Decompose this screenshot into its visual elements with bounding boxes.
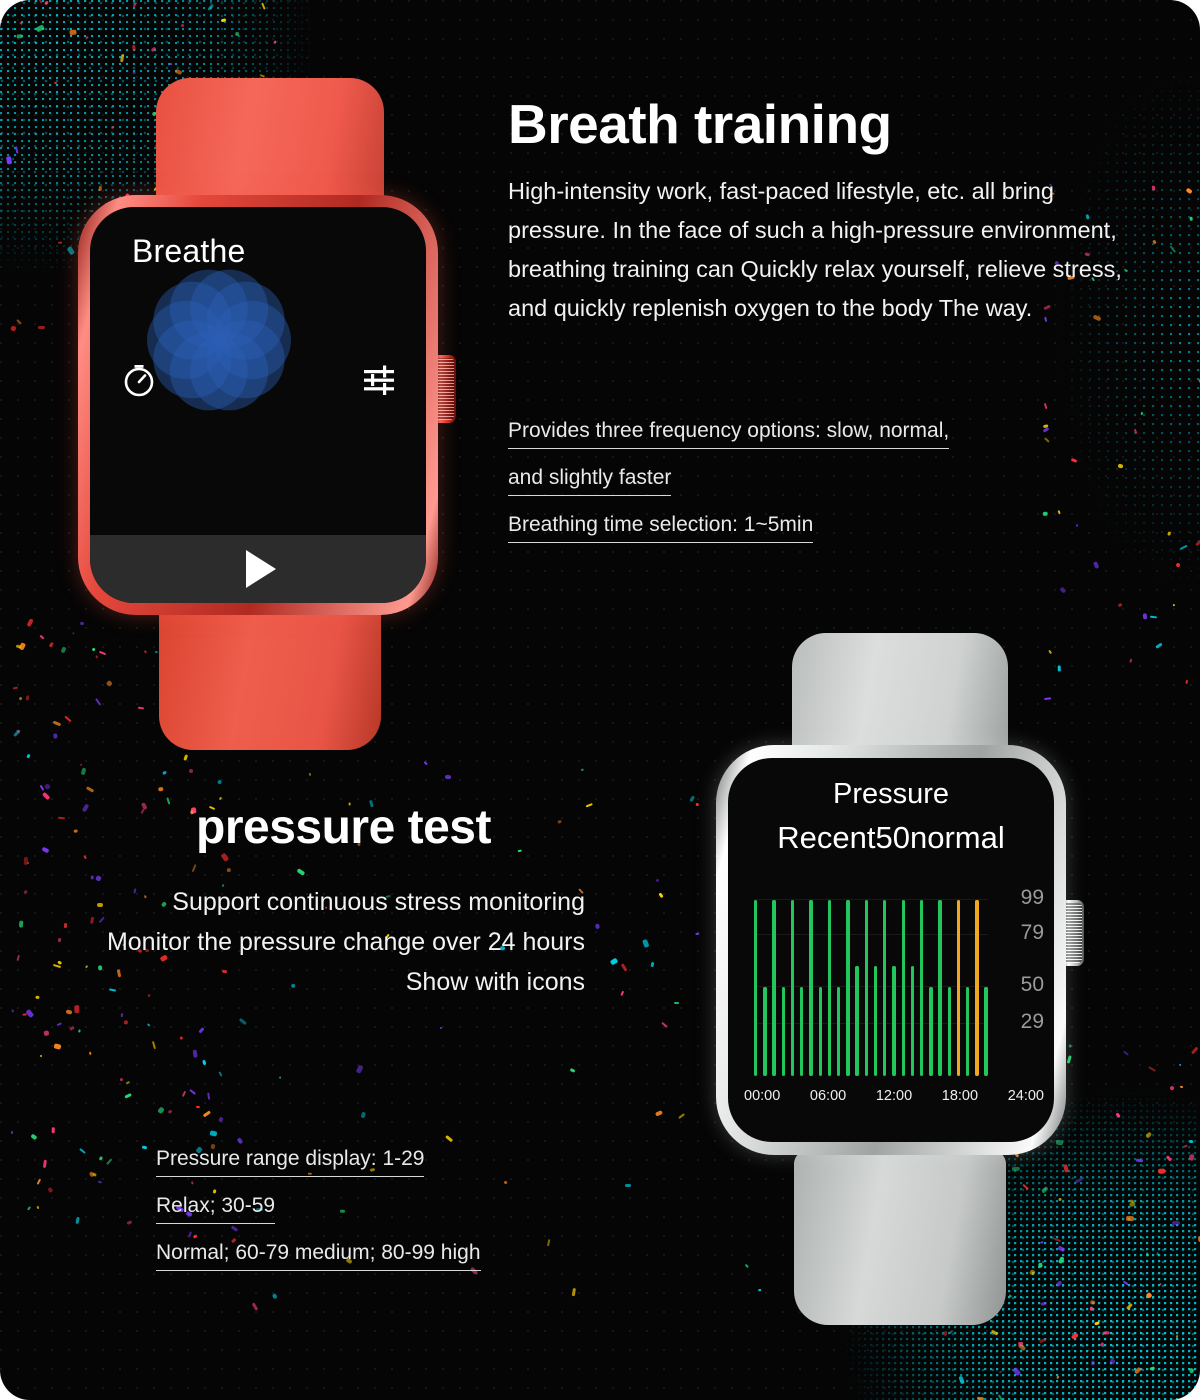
chart-bar (828, 900, 831, 1076)
confetti-speck (203, 1060, 207, 1065)
confetti-speck (654, 1110, 663, 1117)
chart-bar (782, 987, 785, 1076)
chart-bar (957, 900, 960, 1076)
confetti-speck (42, 846, 50, 853)
watch-band-bottom (794, 1150, 1006, 1325)
confetti-speck (1175, 562, 1180, 568)
confetti-speck (943, 1331, 947, 1336)
confetti-speck (27, 1206, 31, 1210)
pressure-spec-list: Pressure range display: 1-29 Relax; 30-5… (156, 1148, 481, 1289)
confetti-speck (272, 1293, 277, 1299)
breathe-mandala-icon (183, 304, 333, 454)
spec-item: Relax; 30-59 (156, 1195, 275, 1224)
confetti-speck (261, 3, 265, 10)
chart-bar (920, 900, 923, 1076)
confetti-speck (18, 696, 22, 700)
confetti-speck (40, 1055, 42, 1057)
confetti-speck (74, 830, 78, 833)
confetti-speck (503, 1180, 507, 1185)
confetti-speck (1116, 1112, 1121, 1117)
confetti-speck (445, 1135, 453, 1143)
confetti-speck (11, 1130, 14, 1133)
confetti-speck (95, 875, 102, 882)
confetti-speck (1175, 1335, 1178, 1339)
confetti-speck (1043, 425, 1049, 429)
confetti-speck (27, 862, 30, 864)
confetti-speck (127, 1220, 133, 1225)
confetti-speck (1158, 1283, 1161, 1286)
confetti-speck (1123, 1051, 1129, 1056)
confetti-speck (221, 18, 226, 22)
confetti-speck (1018, 1342, 1023, 1345)
confetti-speck (1153, 1277, 1155, 1280)
confetti-speck (141, 809, 145, 814)
confetti-speck (182, 1091, 186, 1097)
confetti-speck (1129, 1199, 1134, 1203)
page-title-pressure: pressure test (196, 800, 491, 855)
confetti-speck (1152, 240, 1157, 245)
confetti-speck (78, 1029, 81, 1032)
confetti-speck (557, 819, 562, 824)
confetti-speck (678, 1113, 685, 1119)
pressure-screen-subtitle: Recent50normal (777, 820, 1004, 856)
spec-item: Pressure range display: 1-29 (156, 1148, 424, 1177)
confetti-speck (297, 869, 306, 876)
confetti-speck (38, 326, 45, 329)
confetti-speck (1141, 412, 1144, 415)
confetti-speck (1093, 561, 1099, 568)
confetti-speck (16, 729, 20, 733)
confetti-speck (25, 695, 29, 700)
pressure-description-line: Support continuous stress monitoring (40, 882, 585, 922)
watch-screen-pressure[interactable]: Pressure Recent50normal 99795029 00:0006… (728, 758, 1054, 1142)
chart-bar (855, 966, 858, 1076)
confetti-speck (656, 878, 660, 882)
confetti-speck (239, 1018, 247, 1025)
confetti-speck (1070, 458, 1077, 463)
confetti-speck (40, 635, 45, 640)
confetti-speck (659, 893, 664, 898)
breath-description: High-intensity work, fast-paced lifestyl… (508, 172, 1148, 328)
confetti-speck (35, 995, 40, 998)
confetti-speck (26, 618, 33, 627)
confetti-speck (1167, 531, 1171, 536)
spec-item: Normal; 60-79 medium; 80-99 high (156, 1242, 481, 1271)
confetti-speck (15, 146, 18, 154)
chart-bar (966, 987, 969, 1076)
confetti-speck (1042, 426, 1049, 432)
timer-icon[interactable] (117, 357, 161, 401)
confetti-speck (75, 1005, 80, 1013)
confetti-speck (1126, 1303, 1133, 1310)
confetti-speck (69, 1026, 75, 1031)
confetti-speck (43, 1159, 47, 1167)
confetti-speck (26, 753, 30, 758)
confetti-speck (309, 772, 312, 775)
confetti-speck (76, 1217, 80, 1225)
chart-bar (911, 966, 914, 1076)
confetti-speck (1123, 1281, 1129, 1286)
confetti-speck (625, 1184, 631, 1187)
confetti-speck (83, 803, 90, 811)
confetti-speck (1178, 1064, 1181, 1067)
confetti-speck (651, 961, 654, 966)
chart-y-tick: 29 (1021, 1011, 1044, 1032)
confetti-speck (1143, 613, 1148, 619)
breath-spec-list: Provides three frequency options: slow, … (508, 420, 949, 561)
confetti-speck (1169, 1085, 1174, 1091)
confetti-speck (56, 1022, 61, 1026)
confetti-speck (1195, 538, 1200, 546)
confetti-speck (1136, 1158, 1143, 1162)
confetti-speck (643, 939, 650, 948)
confetti-speck (1057, 510, 1060, 514)
chart-bar (892, 966, 895, 1076)
confetti-speck (26, 1008, 35, 1017)
confetti-speck (158, 787, 164, 792)
confetti-speck (196, 1106, 201, 1108)
confetti-speck (424, 761, 428, 765)
play-button[interactable] (90, 535, 426, 603)
confetti-speck (36, 24, 46, 32)
confetti-speck (219, 796, 222, 800)
confetti-speck (1185, 680, 1187, 684)
confetti-speck (17, 34, 23, 39)
confetti-speck (959, 1376, 965, 1384)
chart-bar (763, 987, 766, 1076)
confetti-speck (1013, 1366, 1021, 1375)
confetti-speck (51, 1127, 54, 1133)
product-poster: Breath training High-intensity work, fas… (0, 0, 1200, 1400)
chart-x-axis: 00:0006:0012:0018:0024:00 (744, 1088, 1044, 1104)
confetti-speck (85, 36, 89, 39)
confetti-speck (1180, 545, 1188, 550)
confetti-speck (1099, 1342, 1104, 1347)
confetti-speck (53, 734, 57, 739)
confetti-speck (199, 1028, 205, 1034)
confetti-speck (152, 1041, 156, 1049)
confetti-speck (1155, 642, 1163, 649)
pressure-description: Support continuous stress monitoring Mon… (40, 882, 585, 1002)
pressure-description-line: Show with icons (40, 962, 585, 1002)
confetti-speck (274, 40, 276, 43)
chart-bar (772, 900, 775, 1076)
chart-y-tick: 79 (1021, 922, 1044, 943)
confetti-speck (1156, 1252, 1158, 1256)
confetti-speck (37, 1179, 41, 1185)
confetti-speck (91, 876, 94, 880)
smartwatch-red: Breathe (60, 60, 480, 750)
confetti-speck (206, 1093, 209, 1100)
spec-item: and slightly faster (508, 467, 671, 496)
confetti-speck (126, 1082, 130, 1085)
confetti-speck (44, 1031, 50, 1037)
confetti-speck (19, 920, 23, 927)
confetti-speck (1170, 245, 1176, 252)
confetti-speck (86, 787, 95, 794)
confetti-speck (1044, 403, 1047, 409)
confetti-speck (1146, 1131, 1153, 1138)
confetti-speck (158, 1107, 166, 1115)
confetti-speck (1044, 437, 1050, 442)
confetti-speck (357, 1065, 364, 1074)
confetti-speck (17, 319, 23, 325)
confetti-speck (141, 802, 147, 809)
confetti-speck (124, 1020, 129, 1024)
confetti-speck (1110, 1359, 1116, 1364)
chart-x-tick: 24:00 (1008, 1088, 1044, 1104)
confetti-speck (70, 29, 77, 34)
confetti-speck (167, 798, 171, 805)
chart-x-tick: 00:00 (744, 1088, 780, 1104)
confetti-speck (360, 1111, 366, 1118)
confetti-speck (207, 4, 214, 11)
confetti-speck (1180, 1086, 1184, 1089)
confetti-speck (1056, 1376, 1059, 1379)
confetti-speck (209, 1130, 217, 1136)
confetti-speck (1039, 1337, 1047, 1343)
pressure-bar-chart (754, 880, 988, 1076)
confetti-speck (19, 642, 26, 650)
confetti-speck (89, 1052, 92, 1055)
chart-bar (984, 987, 987, 1076)
confetti-speck (203, 1110, 211, 1117)
confetti-speck (695, 803, 699, 806)
confetti-speck (47, 1187, 53, 1193)
confetti-speck (147, 1023, 150, 1026)
confetti-speck (1130, 659, 1133, 663)
confetti-speck (133, 2, 137, 7)
chart-bar (754, 900, 757, 1076)
chart-bar (865, 900, 868, 1076)
confetti-speck (99, 1156, 103, 1161)
confetti-speck (1173, 604, 1175, 606)
confetti-speck (179, 1037, 183, 1041)
chart-bar (791, 900, 794, 1076)
confetti-speck (106, 1158, 112, 1164)
confetti-speck (10, 1010, 14, 1014)
confetti-speck (125, 1093, 132, 1099)
confetti-speck (1189, 1154, 1195, 1161)
confetti-speck (689, 795, 695, 802)
confetti-speck (1118, 602, 1122, 606)
confetti-speck (1189, 1368, 1194, 1374)
confetti-speck (1090, 1361, 1095, 1367)
confetti-speck (998, 1371, 1002, 1374)
confetti-speck (252, 1303, 259, 1311)
confetti-speck (142, 1145, 148, 1149)
confetti-speck (1150, 615, 1157, 618)
confetti-speck (673, 1002, 678, 1004)
confetti-speck (237, 1137, 244, 1144)
chart-y-tick: 50 (1021, 974, 1044, 995)
confetti-speck (1148, 1066, 1156, 1072)
confetti-speck (572, 1288, 576, 1296)
confetti-speck (1146, 1252, 1149, 1256)
confetti-speck (168, 1109, 173, 1114)
confetti-speck (1146, 1292, 1153, 1299)
page-title-breath: Breath training (508, 92, 892, 156)
confetti-speck (1189, 217, 1193, 221)
confetti-speck (44, 783, 51, 790)
play-icon (246, 550, 276, 588)
confetti-speck (1191, 1047, 1198, 1055)
confetti-speck (151, 46, 157, 52)
chart-bar (902, 900, 905, 1076)
confetti-speck (79, 1148, 86, 1154)
confetti-speck (440, 1027, 442, 1029)
confetti-speck (1076, 524, 1079, 528)
confetti-speck (1172, 1221, 1180, 1225)
chart-x-tick: 18:00 (942, 1088, 978, 1104)
mandala-petal (207, 282, 285, 360)
confetti-speck (1150, 1366, 1155, 1370)
confetti-speck (16, 644, 22, 648)
chart-bar (809, 900, 812, 1076)
chart-x-tick: 12:00 (876, 1088, 912, 1104)
confetti-speck (1133, 429, 1137, 434)
confetti-speck (661, 1022, 668, 1028)
watch-screen-breathe[interactable]: Breathe (90, 207, 426, 603)
pressure-screen-title: Pressure (833, 778, 949, 811)
chart-bar (800, 987, 803, 1076)
chart-bar (948, 987, 951, 1076)
confetti-speck (1182, 1144, 1187, 1148)
confetti-speck (1128, 1202, 1135, 1207)
chart-bar (883, 900, 886, 1076)
confetti-speck (93, 1172, 98, 1177)
confetti-speck (1043, 512, 1048, 516)
confetti-speck (586, 803, 593, 807)
confetti-speck (594, 924, 599, 929)
chart-bar (846, 900, 849, 1076)
confetti-speck (620, 990, 624, 995)
chart-bar (929, 987, 932, 1076)
confetti-speck (998, 1394, 1003, 1400)
confetti-speck (581, 769, 584, 771)
confetti-speck (181, 24, 185, 27)
confetti-speck (1134, 1367, 1142, 1375)
confetti-speck (611, 958, 619, 966)
smartwatch-silver: Pressure Recent50normal 99795029 00:0006… (700, 625, 1100, 1325)
chart-x-tick: 06:00 (810, 1088, 846, 1104)
confetti-speck (24, 857, 28, 865)
confetti-speck (13, 686, 18, 689)
confetti-speck (189, 1089, 196, 1095)
confetti-speck (121, 1013, 123, 1017)
confetti-speck (132, 45, 136, 51)
confetti-speck (235, 32, 239, 36)
confetti-speck (191, 810, 194, 815)
confetti-speck (445, 775, 451, 780)
confetti-speck (570, 1068, 576, 1073)
chart-bar (819, 987, 822, 1076)
confetti-speck (193, 1049, 198, 1058)
confetti-speck (89, 1171, 95, 1177)
confetti-speck (621, 964, 628, 973)
confetti-speck (38, 0, 42, 4)
confetti-speck (1070, 1333, 1078, 1340)
confetti-speck (227, 868, 232, 872)
pressure-description-line: Monitor the pressure change over 24 hour… (40, 922, 585, 962)
confetti-speck (1103, 1331, 1110, 1335)
confetti-speck (83, 855, 87, 859)
confetti-speck (58, 817, 65, 820)
confetti-speck (1017, 1343, 1025, 1351)
confetti-speck (23, 889, 28, 894)
confetti-speck (1126, 1215, 1134, 1221)
confetti-speck (219, 1116, 225, 1122)
confetti-speck (41, 792, 50, 801)
confetti-speck (188, 769, 193, 774)
confetti-speck (1059, 587, 1066, 594)
confetti-speck (31, 1134, 38, 1141)
confetti-speck (184, 755, 189, 761)
confetti-speck (40, 784, 45, 790)
confetti-speck (120, 1078, 123, 1081)
confetti-speck (217, 780, 222, 785)
confetti-speck (1117, 464, 1123, 469)
spec-item: Provides three frequency options: slow, … (508, 420, 949, 449)
confetti-speck (10, 325, 16, 331)
confetti-speck (48, 642, 53, 648)
confetti-speck (44, 0, 49, 5)
confetti-speck (1166, 1155, 1172, 1161)
breathe-screen-title: Breathe (132, 233, 245, 270)
confetti-speck (20, 21, 24, 24)
confetti-speck (1189, 1140, 1193, 1143)
confetti-speck (278, 1076, 281, 1079)
chart-bars (754, 880, 988, 1076)
confetti-speck (53, 1043, 61, 1049)
confetti-speck (54, 82, 58, 85)
chart-bar (938, 900, 941, 1076)
chart-y-tick: 99 (1021, 887, 1044, 908)
chart-y-axis: 99795029 (996, 870, 1044, 1076)
confetti-speck (98, 1180, 102, 1183)
confetti-speck (1158, 1169, 1165, 1174)
confetti-speck (191, 864, 196, 872)
confetti-speck (6, 155, 12, 164)
confetti-speck (218, 1071, 222, 1076)
sliders-icon[interactable] (359, 359, 401, 401)
confetti-speck (990, 1329, 998, 1335)
confetti-speck (518, 850, 522, 853)
confetti-speck (949, 1330, 953, 1334)
confetti-speck (1185, 188, 1193, 195)
chart-bar (874, 966, 877, 1076)
confetti-speck (80, 763, 83, 766)
confetti-speck (1152, 186, 1155, 192)
chart-bar (975, 900, 978, 1076)
confetti-speck (14, 730, 22, 738)
confetti-speck (547, 1239, 550, 1247)
spec-item: Breathing time selection: 1~5min (508, 514, 813, 543)
confetti-speck (16, 954, 20, 961)
confetti-speck (66, 1009, 73, 1014)
confetti-speck (37, 1206, 40, 1210)
chart-bar (837, 987, 840, 1076)
confetti-speck (80, 767, 86, 775)
confetti-speck (162, 771, 167, 776)
confetti-speck (23, 1014, 27, 1016)
